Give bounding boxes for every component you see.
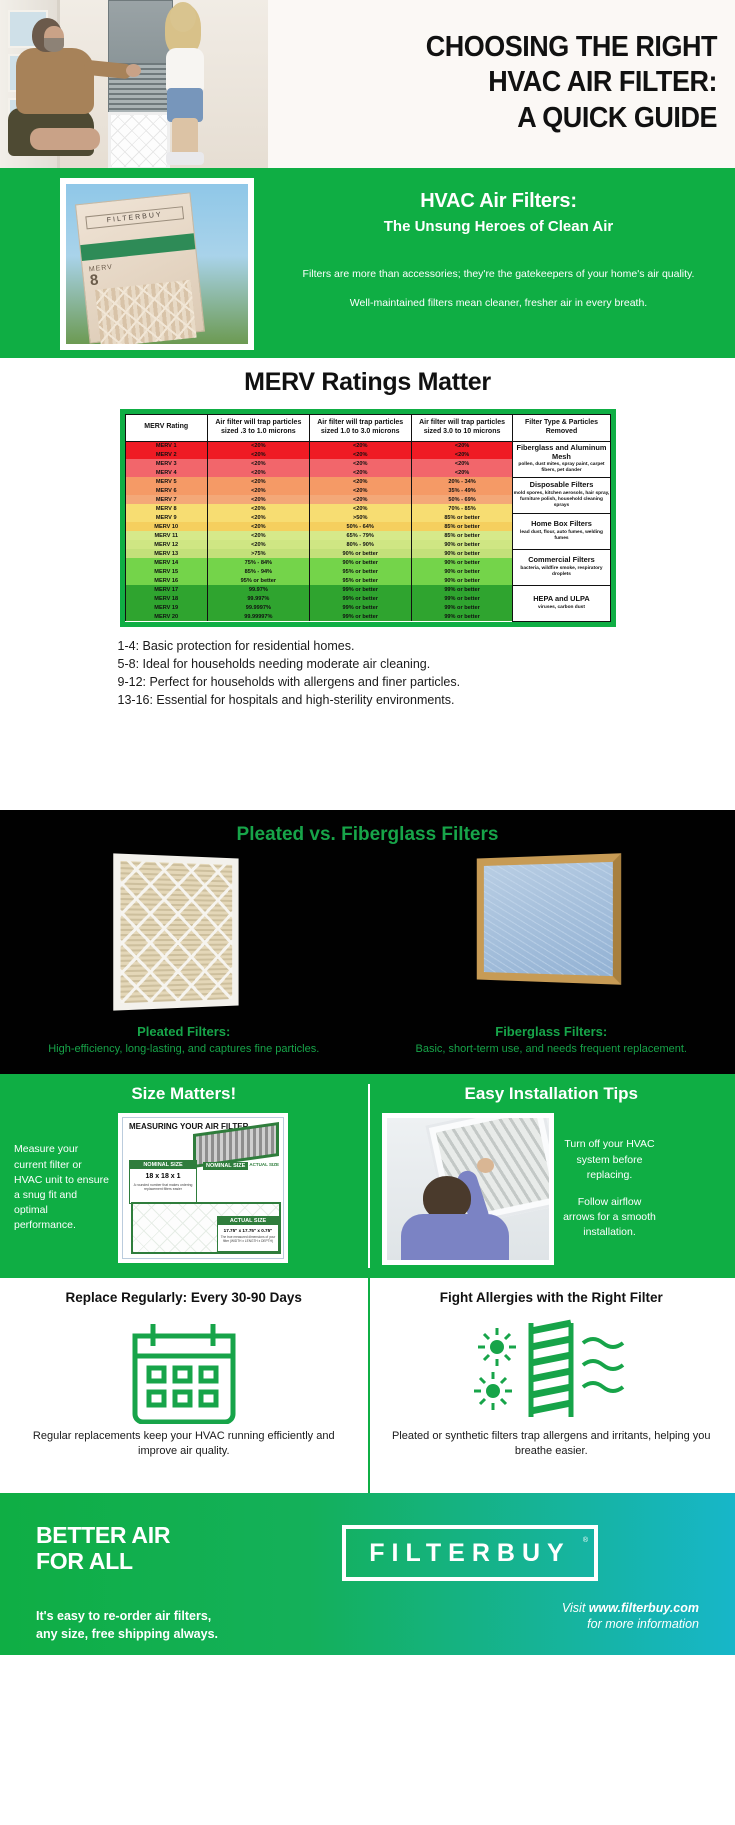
- fight-allergies-column: Fight Allergies with the Right Filter Pl…: [368, 1278, 735, 1493]
- allergies-heading: Fight Allergies with the Right Filter: [382, 1290, 722, 1305]
- merv-cell-c3: 50% - 69%: [411, 495, 513, 504]
- merv-table-header-row: MERV RatingAir filter will trap particle…: [125, 415, 610, 442]
- product-photo-inner: FILTERBUY MERV 8: [66, 184, 248, 344]
- footer-visit-line: Visit www.filterbuy.com: [562, 1601, 699, 1615]
- merv-cell-c2: <20%: [309, 441, 411, 450]
- merv-cell-rating: MERV 14: [125, 558, 207, 567]
- unsung-subheading: The Unsung Heroes of Clean Air: [278, 218, 719, 235]
- merv-cell-rating: MERV 4: [125, 468, 207, 477]
- merv-cell-c2: 95% or better: [309, 567, 411, 576]
- merv-category-title: Home Box Filters: [513, 520, 609, 529]
- product-merv-label: MERV 8: [89, 264, 115, 288]
- merv-cell-c3: 99% or better: [411, 612, 513, 621]
- merv-cell-c2: <20%: [309, 459, 411, 468]
- merv-category-title: Fiberglass and Aluminum Mesh: [513, 444, 609, 462]
- merv-cell-c2: 99% or better: [309, 594, 411, 603]
- merv-cell-c1: 95% or better: [207, 576, 309, 585]
- footer-subtext: It's easy to re-order air filters, any s…: [36, 1607, 218, 1643]
- merv-cell-rating: MERV 16: [125, 576, 207, 585]
- merv-cell-c2: 90% or better: [309, 558, 411, 567]
- unsung-paragraph-1: Filters are more than accessories; they'…: [278, 267, 719, 282]
- merv-cell-rating: MERV 15: [125, 567, 207, 576]
- pleated-heading: Pleated Filters:: [0, 1024, 368, 1039]
- install-tips-text: Turn off your HVAC system before replaci…: [562, 1137, 658, 1240]
- girl-shirt: [166, 48, 204, 92]
- merv-cell-c2: 65% - 79%: [309, 531, 411, 540]
- merv-cell-c3: 85% or better: [411, 522, 513, 531]
- allergies-text: Pleated or synthetic filters trap allerg…: [382, 1429, 722, 1460]
- merv-category-cell: Commercial Filtersbacteria, wildfire smo…: [513, 549, 610, 585]
- measuring-diagram-inner: MEASURING YOUR AIR FILTER NOMINAL SIZE 1…: [122, 1117, 284, 1259]
- girl-legs: [172, 118, 198, 156]
- girl-head: [170, 2, 196, 32]
- merv-col-header-0: MERV Rating: [125, 415, 207, 442]
- comparison-images-row: [0, 856, 735, 1016]
- merv-cell-c1: <20%: [207, 450, 309, 459]
- merv-cell-rating: MERV 13: [125, 549, 207, 558]
- hero-title-line-1: CHOOSING THE RIGHT: [308, 30, 717, 65]
- merv-cell-c3: 85% or better: [411, 513, 513, 522]
- fiberglass-description: Basic, short-term use, and needs frequen…: [368, 1042, 735, 1057]
- merv-cell-rating: MERV 18: [125, 594, 207, 603]
- merv-cell-c3: 90% or better: [411, 576, 513, 585]
- footer-headline-block: BETTER AIR FOR ALL It's easy to re-order…: [36, 1523, 218, 1643]
- footer-headline-2: FOR ALL: [36, 1549, 218, 1575]
- merv-cell-c1: <20%: [207, 522, 309, 531]
- merv-cell-c1: <20%: [207, 531, 309, 540]
- merv-cell-c2: <20%: [309, 486, 411, 495]
- fiberglass-caption: Fiberglass Filters: Basic, short-term us…: [368, 1024, 735, 1057]
- merv-cell-c2: 50% - 64%: [309, 522, 411, 531]
- merv-category-title: Disposable Filters: [513, 481, 609, 490]
- merv-note-1: 5-8: Ideal for households needing modera…: [118, 655, 618, 673]
- merv-category-sub: lead dust, flour, auto fumes, welding fu…: [513, 530, 609, 542]
- product-photo: FILTERBUY MERV 8: [60, 178, 254, 350]
- filter-panel-graphic: [108, 112, 170, 168]
- merv-cell-c1: <20%: [207, 540, 309, 549]
- merv-cell-c3: 35% - 49%: [411, 486, 513, 495]
- filter-airflow-icon: [382, 1311, 722, 1429]
- unsung-heroes-section: FILTERBUY MERV 8 HVAC Air Filters: The U…: [0, 168, 735, 358]
- replace-heading: Replace Regularly: Every 30-90 Days: [14, 1290, 354, 1305]
- size-matters-column: Size Matters! Measure your current filte…: [0, 1074, 368, 1278]
- fiberglass-heading: Fiberglass Filters:: [368, 1024, 735, 1039]
- actual-size-box: ACTUAL SIZE 17.75" x 17.75" x 0.75" The …: [217, 1216, 279, 1252]
- merv-category-title: Commercial Filters: [513, 556, 609, 565]
- merv-row: MERV 5<20%<20%20% - 34%Disposable Filter…: [125, 477, 610, 486]
- merv-col-header-1: Air filter will trap particles sized .3 …: [207, 415, 309, 442]
- merv-cell-c1: 99.99997%: [207, 612, 309, 621]
- merv-cell-rating: MERV 1: [125, 441, 207, 450]
- merv-col-header-3: Air filter will trap particles sized 3.0…: [411, 415, 513, 442]
- merv-cell-rating: MERV 9: [125, 513, 207, 522]
- unsung-text-block: HVAC Air Filters: The Unsung Heroes of C…: [268, 168, 735, 358]
- filterbuy-logo-text: FILTERBUY: [369, 1539, 570, 1568]
- pleated-caption: Pleated Filters: High-efficiency, long-l…: [0, 1024, 368, 1057]
- merv-cell-rating: MERV 20: [125, 612, 207, 621]
- technician-hand: [477, 1158, 494, 1173]
- unsung-paragraph-2: Well-maintained filters mean cleaner, fr…: [278, 296, 719, 311]
- merv-cell-c2: <20%: [309, 477, 411, 486]
- replace-regularly-column: Replace Regularly: Every 30-90 Days Regu…: [0, 1278, 368, 1493]
- visit-url[interactable]: www.filterbuy.com: [589, 1601, 699, 1615]
- girl-shorts: [167, 88, 203, 122]
- actual-size-label: ACTUAL SIZE: [218, 1217, 278, 1225]
- product-mesh-overlay: [95, 280, 197, 344]
- fiberglass-filter-image: [477, 853, 621, 984]
- merv-cell-c2: >50%: [309, 513, 411, 522]
- merv-col-header-4: Filter Type & Particles Removed: [513, 415, 610, 442]
- merv-cell-c2: <20%: [309, 468, 411, 477]
- merv-cell-c2: 95% or better: [309, 576, 411, 585]
- install-tip-1: Turn off your HVAC system before replaci…: [562, 1137, 658, 1183]
- merv-note-2: 9-12: Perfect for households with allerg…: [118, 673, 618, 691]
- merv-number: 8: [89, 271, 115, 288]
- footer-more-info: for more information: [562, 1617, 699, 1631]
- unsung-heading: HVAC Air Filters:: [278, 190, 719, 213]
- visit-prefix: Visit: [562, 1601, 589, 1615]
- merv-cell-c3: <20%: [411, 441, 513, 450]
- merv-category-sub: pollen, dust mites, spray paint, carpet …: [513, 462, 609, 474]
- hvac-vent-graphic: [108, 0, 173, 120]
- footer-visit-block: Visit www.filterbuy.com for more informa…: [562, 1601, 699, 1631]
- merv-cell-c1: 85% - 94%: [207, 567, 309, 576]
- merv-cell-c3: 70% - 85%: [411, 504, 513, 513]
- merv-category-sub: mold spores, kitchen aerosols, hair spra…: [513, 491, 609, 509]
- merv-cell-rating: MERV 8: [125, 504, 207, 513]
- merv-cell-c3: 99% or better: [411, 594, 513, 603]
- man-torso: [16, 48, 94, 114]
- measuring-diagram: MEASURING YOUR AIR FILTER NOMINAL SIZE 1…: [118, 1113, 288, 1263]
- merv-category-cell: Fiberglass and Aluminum Meshpollen, dust…: [513, 441, 610, 477]
- hero-photo: [0, 0, 268, 168]
- merv-cell-c3: <20%: [411, 450, 513, 459]
- merv-row: MERV 1799.97%99% or better99% or betterH…: [125, 585, 610, 594]
- merv-category-cell: HEPA and ULPAviruses, carbon dust: [513, 585, 610, 621]
- merv-cell-c2: 90% or better: [309, 549, 411, 558]
- merv-category-cell: Home Box Filterslead dust, flour, auto f…: [513, 513, 610, 549]
- merv-cell-rating: MERV 2: [125, 450, 207, 459]
- actual-size-value: 17.75" x 17.75" x 0.75": [218, 1228, 278, 1233]
- merv-cell-c1: 99.97%: [207, 585, 309, 594]
- merv-cell-c2: 99% or better: [309, 603, 411, 612]
- merv-table: MERV RatingAir filter will trap particle…: [125, 414, 611, 622]
- hero-title: CHOOSING THE RIGHT HVAC AIR FILTER: A QU…: [277, 30, 717, 136]
- merv-cell-c2: <20%: [309, 504, 411, 513]
- merv-category-sub: bacteria, wildfire smoke, respiratory dr…: [513, 566, 609, 578]
- merv-cell-c3: 20% - 34%: [411, 477, 513, 486]
- size-heading: Size Matters!: [14, 1084, 354, 1104]
- merv-row: MERV 9<20%>50%85% or betterHome Box Filt…: [125, 513, 610, 522]
- size-install-section: Size Matters! Measure your current filte…: [0, 1074, 735, 1278]
- merv-category-cell: Disposable Filtersmold spores, kitchen a…: [513, 477, 610, 513]
- merv-notes: 1-4: Basic protection for residential ho…: [118, 637, 618, 710]
- merv-cell-c1: <20%: [207, 486, 309, 495]
- footer-headline-1: BETTER AIR: [36, 1523, 218, 1549]
- merv-cell-c1: 75% - 84%: [207, 558, 309, 567]
- merv-table-body: MERV 1<20%<20%<20%Fiberglass and Aluminu…: [125, 441, 610, 621]
- merv-cell-c3: 90% or better: [411, 567, 513, 576]
- comparison-captions: Pleated Filters: High-efficiency, long-l…: [0, 1024, 735, 1057]
- merv-cell-rating: MERV 17: [125, 585, 207, 594]
- merv-note-0: 1-4: Basic protection for residential ho…: [118, 637, 618, 655]
- merv-cell-rating: MERV 19: [125, 603, 207, 612]
- footer-section: BETTER AIR FOR ALL It's easy to re-order…: [0, 1493, 735, 1655]
- merv-title: MERV Ratings Matter: [0, 368, 735, 397]
- merv-cell-c1: <20%: [207, 459, 309, 468]
- nominal-size-value: 18 x 18 x 1: [130, 1173, 196, 1180]
- merv-cell-rating: MERV 7: [125, 495, 207, 504]
- pleated-description: High-efficiency, long-lasting, and captu…: [0, 1042, 368, 1057]
- installation-photo-inner: [387, 1118, 549, 1260]
- hero-title-line-3: A QUICK GUIDE: [308, 101, 717, 136]
- calendar-icon: [14, 1311, 354, 1429]
- nominal-size-box: NOMINAL SIZE 18 x 18 x 1 A rounded numbe…: [129, 1160, 197, 1204]
- man-shin: [30, 128, 100, 150]
- install-body: Turn off your HVAC system before replaci…: [382, 1113, 722, 1265]
- install-heading: Easy Installation Tips: [382, 1084, 722, 1104]
- nominal-size-label: NOMINAL SIZE: [130, 1161, 196, 1169]
- technician-body: [401, 1214, 509, 1260]
- merv-cell-c3: 99% or better: [411, 603, 513, 612]
- merv-cell-c1: <20%: [207, 477, 309, 486]
- filter-box-graphic: FILTERBUY MERV 8: [75, 192, 205, 343]
- merv-cell-c3: <20%: [411, 459, 513, 468]
- merv-cell-c1: <20%: [207, 504, 309, 513]
- merv-cell-rating: MERV 6: [125, 486, 207, 495]
- merv-cell-rating: MERV 10: [125, 522, 207, 531]
- merv-cell-c2: <20%: [309, 495, 411, 504]
- merv-cell-c3: 90% or better: [411, 549, 513, 558]
- nominal-size-sub: A rounded number that makes ordering rep…: [132, 1183, 194, 1191]
- trademark-icon: ®: [583, 1537, 588, 1544]
- install-tip-2: Follow airflow arrows for a smooth insta…: [562, 1195, 658, 1241]
- footer-subtext-1: It's easy to re-order air filters,: [36, 1607, 218, 1625]
- merv-cell-rating: MERV 3: [125, 459, 207, 468]
- comparison-title: Pleated vs. Fiberglass Filters: [0, 824, 735, 846]
- nominal-size-label-2: NOMINAL SIZE: [203, 1162, 248, 1170]
- merv-cell-c2: <20%: [309, 450, 411, 459]
- size-text: Measure your current filter or HVAC unit…: [14, 1142, 110, 1233]
- merv-category-title: HEPA and ULPA: [513, 595, 609, 604]
- merv-cell-rating: MERV 5: [125, 477, 207, 486]
- merv-category-sub: viruses, carbon dust: [513, 605, 609, 611]
- merv-cell-c2: 80% - 90%: [309, 540, 411, 549]
- product-brand-label: FILTERBUY: [85, 206, 184, 229]
- merv-cell-c1: <20%: [207, 468, 309, 477]
- pleated-filter-image: [113, 853, 238, 1010]
- merv-cell-c3: 90% or better: [411, 540, 513, 549]
- man-hand: [126, 64, 141, 77]
- merv-cell-c2: 99% or better: [309, 612, 411, 621]
- merv-cell-c3: <20%: [411, 468, 513, 477]
- hero-section: CHOOSING THE RIGHT HVAC AIR FILTER: A QU…: [0, 0, 735, 168]
- merv-cell-c1: >75%: [207, 549, 309, 558]
- merv-cell-rating: MERV 12: [125, 540, 207, 549]
- merv-cell-c3: 90% or better: [411, 558, 513, 567]
- installation-photo: [382, 1113, 554, 1265]
- merv-cell-c2: 99% or better: [309, 585, 411, 594]
- merv-cell-c1: <20%: [207, 513, 309, 522]
- bottom-tips-section: Replace Regularly: Every 30-90 Days Regu…: [0, 1278, 735, 1493]
- merv-col-header-2: Air filter will trap particles sized 1.0…: [309, 415, 411, 442]
- merv-row: MERV 1<20%<20%<20%Fiberglass and Aluminu…: [125, 441, 610, 450]
- actual-size-label-2: ACTUAL SIZE: [249, 1162, 279, 1167]
- install-tips-column: Easy Installation Tips Turn off your HVA…: [368, 1074, 735, 1278]
- girl-shoes: [166, 152, 204, 165]
- replace-text: Regular replacements keep your HVAC runn…: [14, 1429, 354, 1460]
- merv-table-frame: MERV RatingAir filter will trap particle…: [120, 409, 616, 627]
- merv-cell-c1: <20%: [207, 495, 309, 504]
- merv-section: MERV Ratings Matter MERV RatingAir filte…: [0, 358, 735, 810]
- merv-cell-c1: 99.9997%: [207, 603, 309, 612]
- merv-cell-c3: 99% or better: [411, 585, 513, 594]
- merv-cell-c1: <20%: [207, 441, 309, 450]
- actual-size-sub: The true measured dimensions of your fil…: [220, 1236, 276, 1244]
- infographic-page: CHOOSING THE RIGHT HVAC AIR FILTER: A QU…: [0, 0, 735, 1825]
- merv-note-3: 13-16: Essential for hospitals and high-…: [118, 691, 618, 709]
- filterbuy-logo[interactable]: FILTERBUY ®: [342, 1525, 598, 1581]
- comparison-section: Pleated vs. Fiberglass Filters Pleated F…: [0, 810, 735, 1074]
- product-band: [80, 233, 195, 261]
- merv-cell-c3: 85% or better: [411, 531, 513, 540]
- merv-row: MERV 13>75%90% or better90% or betterCom…: [125, 549, 610, 558]
- merv-cell-rating: MERV 11: [125, 531, 207, 540]
- merv-cell-c1: 99.997%: [207, 594, 309, 603]
- hero-title-line-2: HVAC AIR FILTER:: [308, 65, 717, 100]
- size-body: Measure your current filter or HVAC unit…: [14, 1113, 354, 1263]
- man-beard: [44, 38, 64, 52]
- footer-subtext-2: any size, free shipping always.: [36, 1625, 218, 1643]
